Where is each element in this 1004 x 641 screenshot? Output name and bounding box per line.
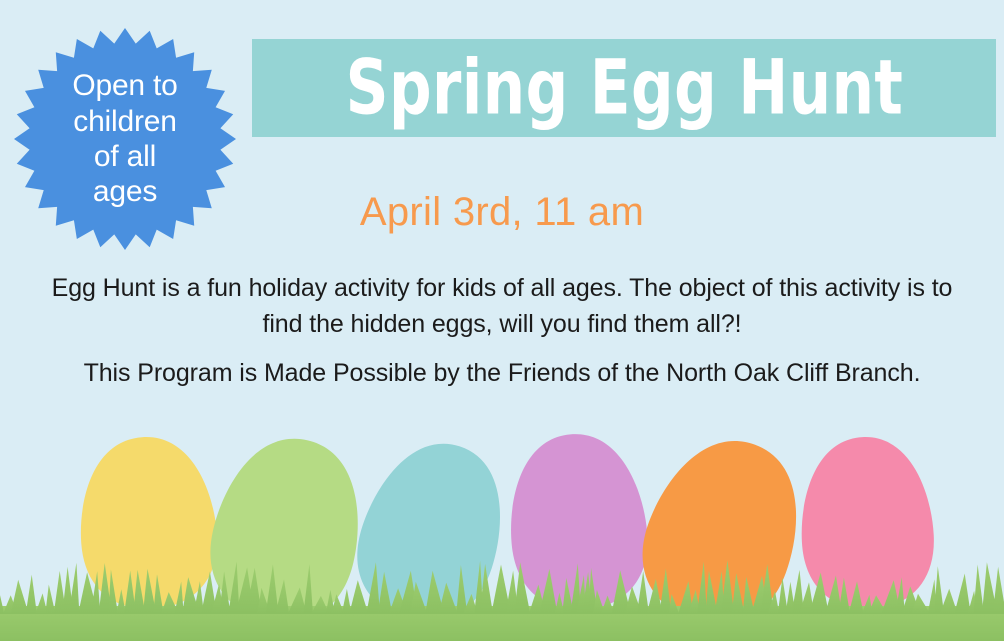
event-credit: This Program is Made Possible by the Fri… — [42, 356, 962, 392]
grass-blade — [45, 585, 55, 615]
grass-blade — [26, 575, 37, 614]
grass-blade — [954, 574, 970, 615]
poster-canvas: Open to children of all ages Spring Egg … — [0, 0, 1004, 641]
grass-blade — [11, 580, 29, 614]
event-date: April 3rd, 11 am — [0, 190, 1004, 235]
page-title: Spring Egg Hunt — [345, 50, 903, 126]
egg-grass-scene — [0, 410, 1004, 641]
grass-blade — [973, 565, 984, 615]
event-description: Egg Hunt is a fun holiday activity for k… — [42, 271, 962, 342]
grass-blade — [69, 563, 80, 614]
title-banner: Spring Egg Hunt — [252, 39, 996, 137]
grass-blade — [342, 589, 352, 614]
grass-blade — [940, 589, 958, 614]
grass-blade — [993, 567, 1004, 614]
